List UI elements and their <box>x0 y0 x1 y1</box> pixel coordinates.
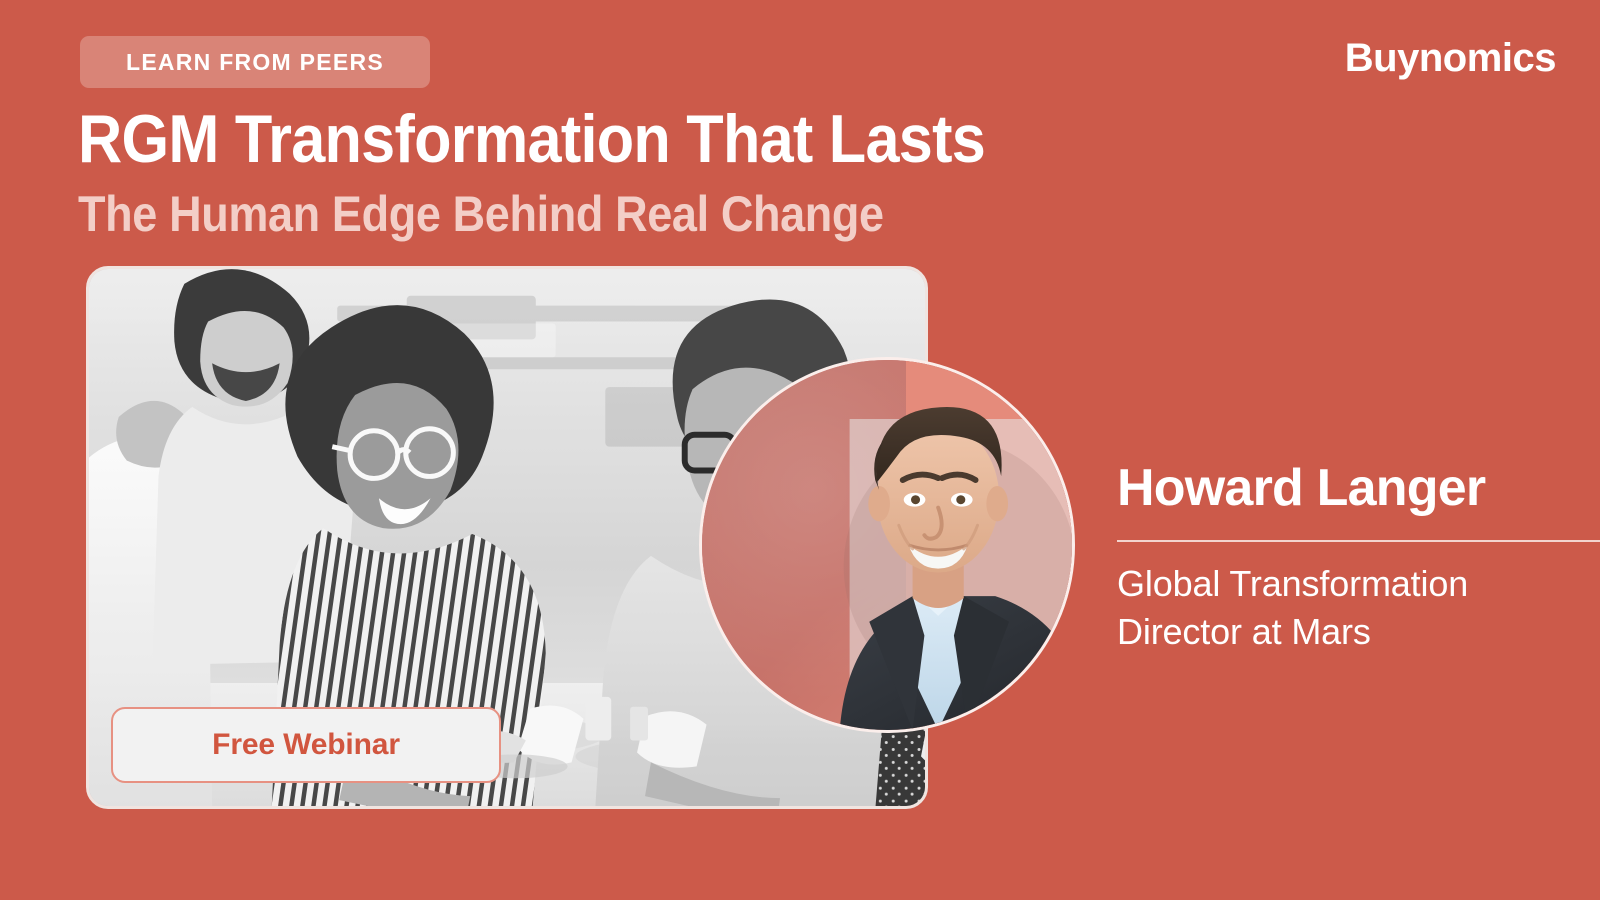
webinar-promo-banner: LEARN FROM PEERS Buynomics RGM Transform… <box>0 0 1600 900</box>
buynomics-logo: Buynomics <box>1345 38 1556 78</box>
speaker-portrait <box>699 357 1075 733</box>
page-title: RGM Transformation That Lasts <box>78 104 1212 174</box>
speaker-name: Howard Langer <box>1117 462 1600 515</box>
learn-from-peers-badge: LEARN FROM PEERS <box>80 36 430 88</box>
speaker-role-line-2: Director at Mars <box>1117 608 1587 656</box>
headline-block: RGM Transformation That Lasts The Human … <box>78 104 1338 241</box>
badge-label: LEARN FROM PEERS <box>126 51 384 74</box>
speaker-info: Howard Langer Global Transformation Dire… <box>1117 462 1600 655</box>
speaker-role: Global Transformation Director at Mars <box>1117 560 1587 655</box>
page-subtitle: The Human Edge Behind Real Change <box>78 188 1212 241</box>
speaker-divider <box>1117 540 1600 542</box>
free-webinar-label: Free Webinar <box>212 730 400 760</box>
free-webinar-button[interactable]: Free Webinar <box>111 707 501 783</box>
speaker-role-line-1: Global Transformation <box>1117 560 1587 608</box>
